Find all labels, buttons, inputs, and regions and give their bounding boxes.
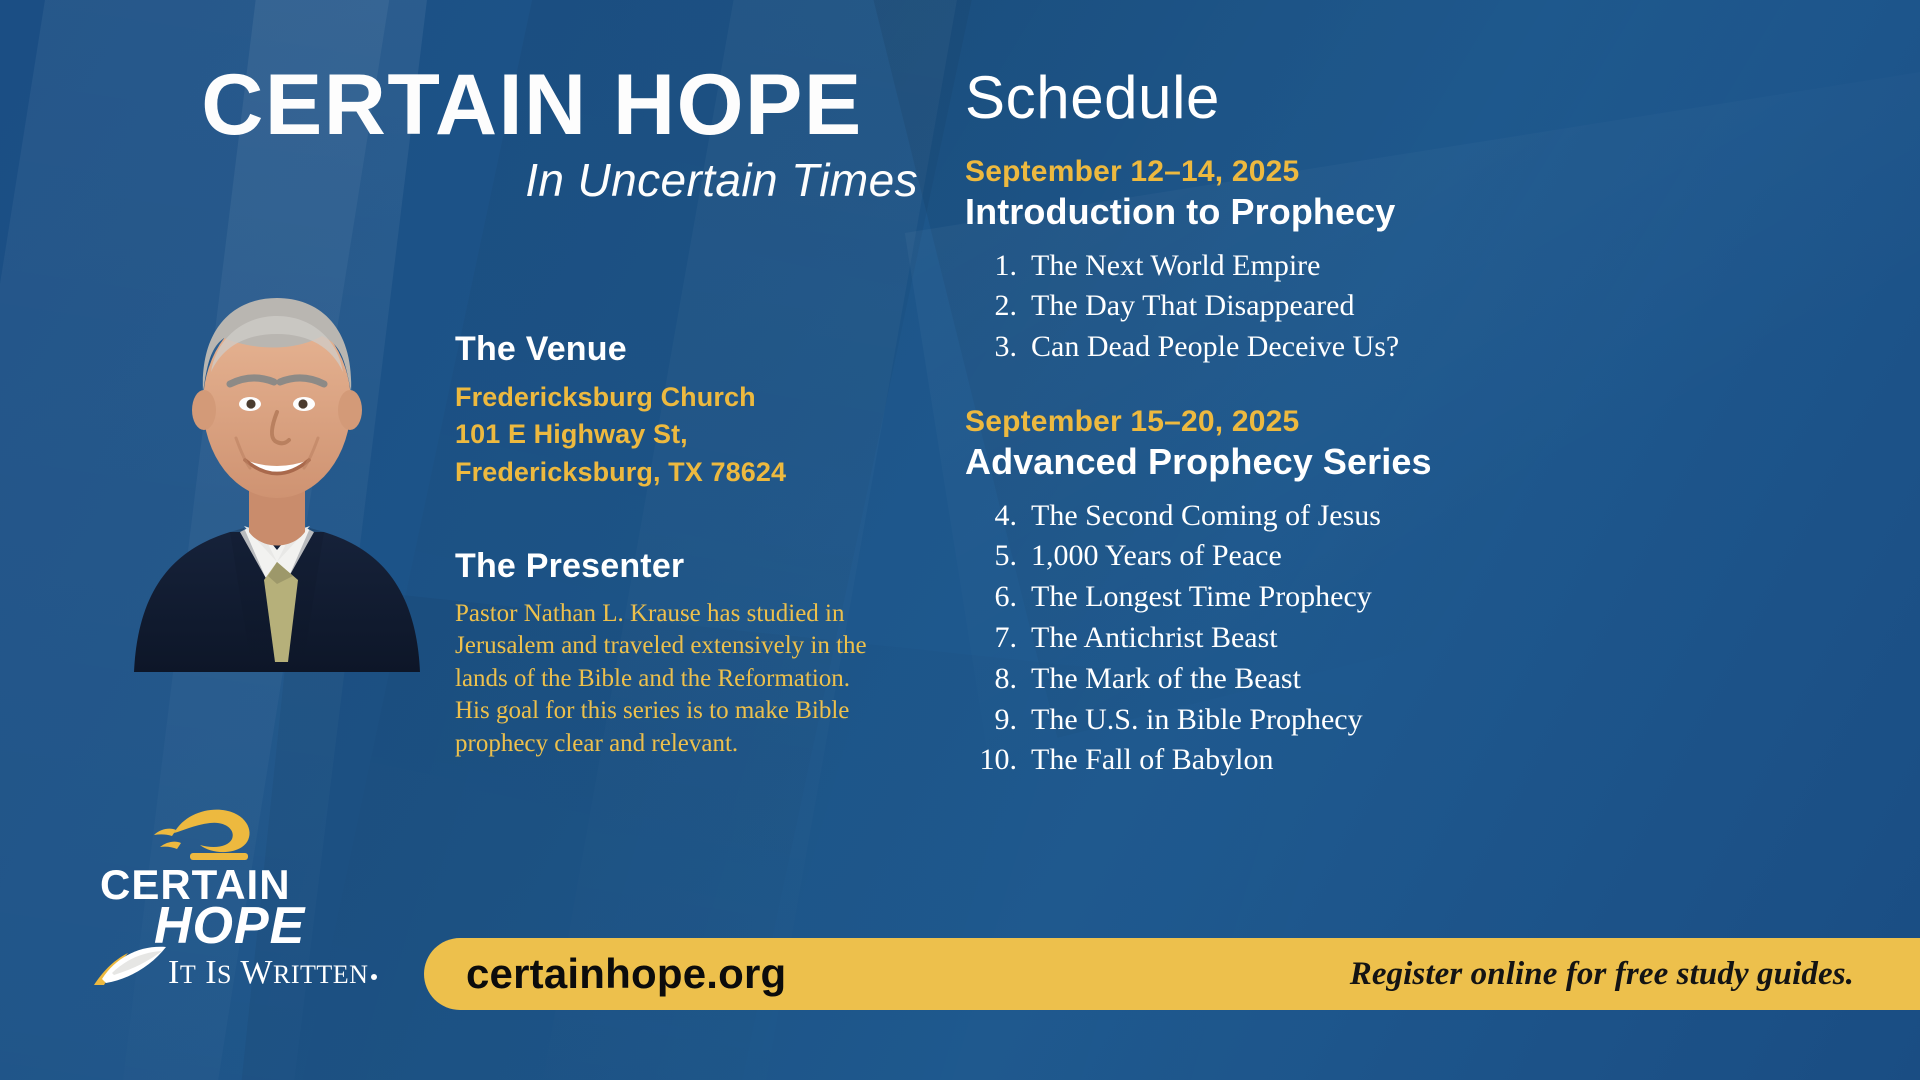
schedule-date: September 12–14, 2025 — [965, 154, 1785, 189]
schedule-heading: Schedule — [965, 68, 1785, 128]
venue-address: Fredericksburg Church 101 E Highway St, … — [455, 379, 885, 491]
presenter-portrait — [112, 232, 442, 672]
session-item: 10. The Fall of Babylon — [965, 740, 1785, 781]
session-item: 5. 1,000 Years of Peace — [965, 536, 1785, 577]
session-title: The Second Coming of Jesus — [1031, 496, 1785, 537]
quill-icon — [94, 947, 166, 985]
session-number: 10. — [965, 740, 1031, 781]
session-item: 4. The Second Coming of Jesus — [965, 496, 1785, 537]
session-list: 1. The Next World Empire 2. The Day That… — [965, 246, 1785, 368]
session-number: 8. — [965, 659, 1031, 700]
session-item: 6. The Longest Time Prophecy — [965, 577, 1785, 618]
schedule-panel: Schedule September 12–14, 2025 Introduct… — [965, 68, 1785, 781]
session-title: The Day That Disappeared — [1031, 286, 1785, 327]
schedule-block: September 12–14, 2025 Introduction to Pr… — [965, 154, 1785, 368]
session-title: The U.S. in Bible Prophecy — [1031, 700, 1785, 741]
presenter-bio: Pastor Nathan L. Krause has studied in J… — [455, 598, 885, 761]
flame-icon — [154, 810, 250, 860]
session-number: 2. — [965, 286, 1031, 327]
schedule-series-title: Advanced Prophecy Series — [965, 440, 1785, 483]
presenter-heading: The Presenter — [455, 547, 885, 586]
event-title: CERTAIN HOPE — [142, 62, 922, 148]
session-item: 2. The Day That Disappeared — [965, 286, 1785, 327]
session-number: 3. — [965, 327, 1031, 368]
session-title: The Longest Time Prophecy — [1031, 577, 1785, 618]
headline-group: CERTAIN HOPE In Uncertain Times — [142, 62, 922, 204]
session-number: 6. — [965, 577, 1031, 618]
session-number: 9. — [965, 700, 1031, 741]
session-number: 5. — [965, 536, 1031, 577]
venue-street: 101 E Highway St, — [455, 416, 885, 453]
logo-lockup: CERTAIN HOPE IT IS WRITTEN — [82, 795, 382, 990]
schedule-series-title: Introduction to Prophecy — [965, 190, 1785, 233]
session-title: 1,000 Years of Peace — [1031, 536, 1785, 577]
session-number: 1. — [965, 246, 1031, 287]
session-item: 9. The U.S. in Bible Prophecy — [965, 700, 1785, 741]
venue-heading: The Venue — [455, 330, 885, 369]
venue-name: Fredericksburg Church — [455, 379, 885, 416]
session-number: 4. — [965, 496, 1031, 537]
svg-text:HOPE: HOPE — [154, 897, 306, 955]
session-item: 8. The Mark of the Beast — [965, 659, 1785, 700]
session-list: 4. The Second Coming of Jesus 5. 1,000 Y… — [965, 496, 1785, 782]
session-item: 7. The Antichrist Beast — [965, 618, 1785, 659]
session-item: 3. Can Dead People Deceive Us? — [965, 327, 1785, 368]
website-url[interactable]: certainhope.org — [466, 950, 786, 998]
schedule-block: September 15–20, 2025 Advanced Prophecy … — [965, 404, 1785, 781]
event-subtitle: In Uncertain Times — [142, 156, 922, 204]
venue-city-state-zip: Fredericksburg, TX 78624 — [455, 454, 885, 491]
session-title: The Fall of Babylon — [1031, 740, 1785, 781]
cta-bar[interactable]: certainhope.org Register online for free… — [424, 938, 1920, 1010]
session-title: The Antichrist Beast — [1031, 618, 1785, 659]
details-panel: The Venue Fredericksburg Church 101 E Hi… — [455, 330, 885, 785]
session-title: The Next World Empire — [1031, 246, 1785, 287]
poster-canvas: CERTAIN HOPE In Uncertain Times — [0, 0, 1920, 1080]
cta-tagline: Register online for free study guides. — [1350, 956, 1854, 993]
session-title: Can Dead People Deceive Us? — [1031, 327, 1785, 368]
session-number: 7. — [965, 618, 1031, 659]
svg-text:IT IS WRITTEN: IT IS WRITTEN — [168, 954, 368, 990]
session-item: 1. The Next World Empire — [965, 246, 1785, 287]
session-title: The Mark of the Beast — [1031, 659, 1785, 700]
schedule-date: September 15–20, 2025 — [965, 404, 1785, 439]
